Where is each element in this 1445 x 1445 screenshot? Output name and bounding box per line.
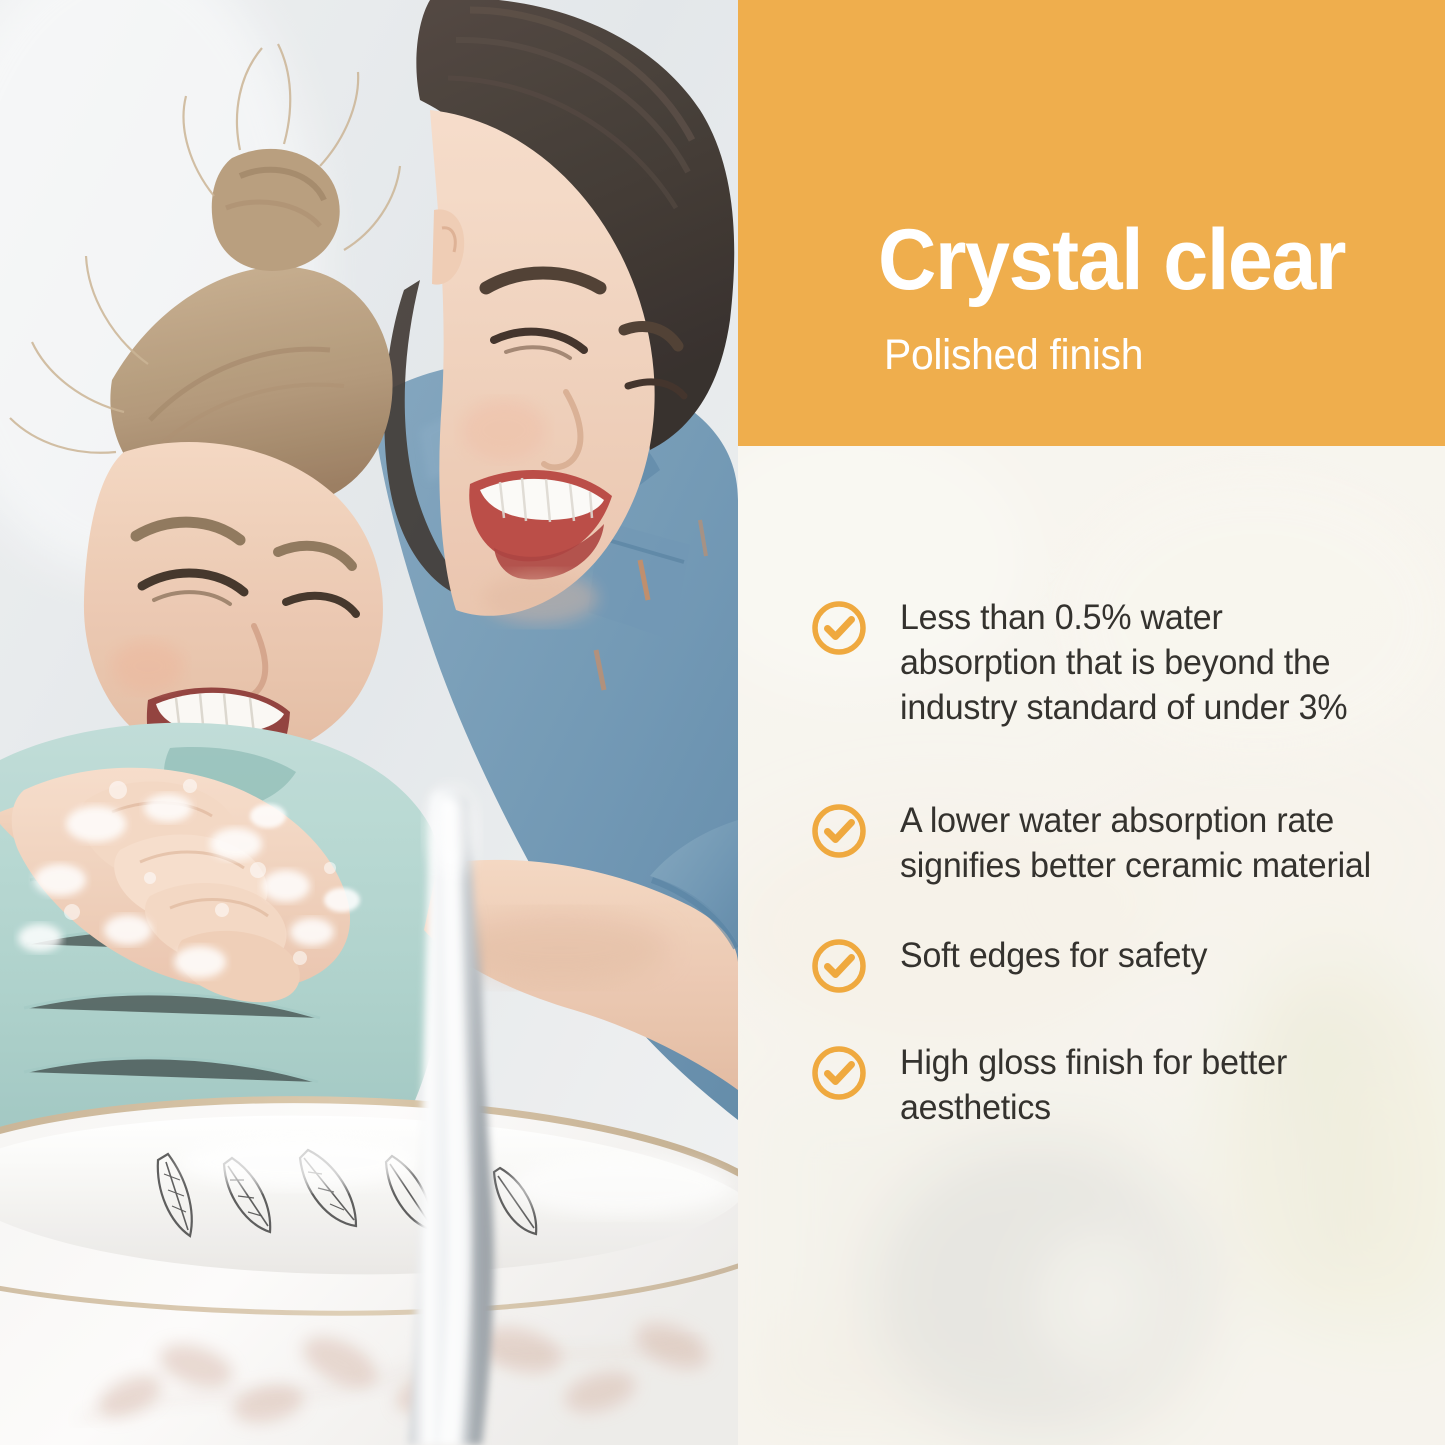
- feature-list: Less than 0.5% water absorption that is …: [738, 0, 1445, 1445]
- lifestyle-photo: [0, 0, 738, 1445]
- feature-text: A lower water absorption rate signifies …: [900, 798, 1385, 888]
- photo-illustration: [0, 0, 738, 1445]
- check-circle-icon: [810, 937, 868, 995]
- feature-text: Soft edges for safety: [900, 933, 1385, 978]
- feature-text: Less than 0.5% water absorption that is …: [900, 595, 1385, 730]
- check-circle-icon: [810, 599, 868, 657]
- check-circle-icon: [810, 802, 868, 860]
- feature-item: High gloss finish for better aesthetics: [810, 1040, 1400, 1130]
- product-feature-banner: Crystal clear Polished finish Less than …: [0, 0, 1445, 1445]
- feature-item: A lower water absorption rate signifies …: [810, 798, 1400, 888]
- feature-item: Soft edges for safety: [810, 933, 1400, 995]
- feature-text: High gloss finish for better aesthetics: [900, 1040, 1385, 1130]
- feature-item: Less than 0.5% water absorption that is …: [810, 595, 1400, 730]
- check-circle-icon: [810, 1044, 868, 1102]
